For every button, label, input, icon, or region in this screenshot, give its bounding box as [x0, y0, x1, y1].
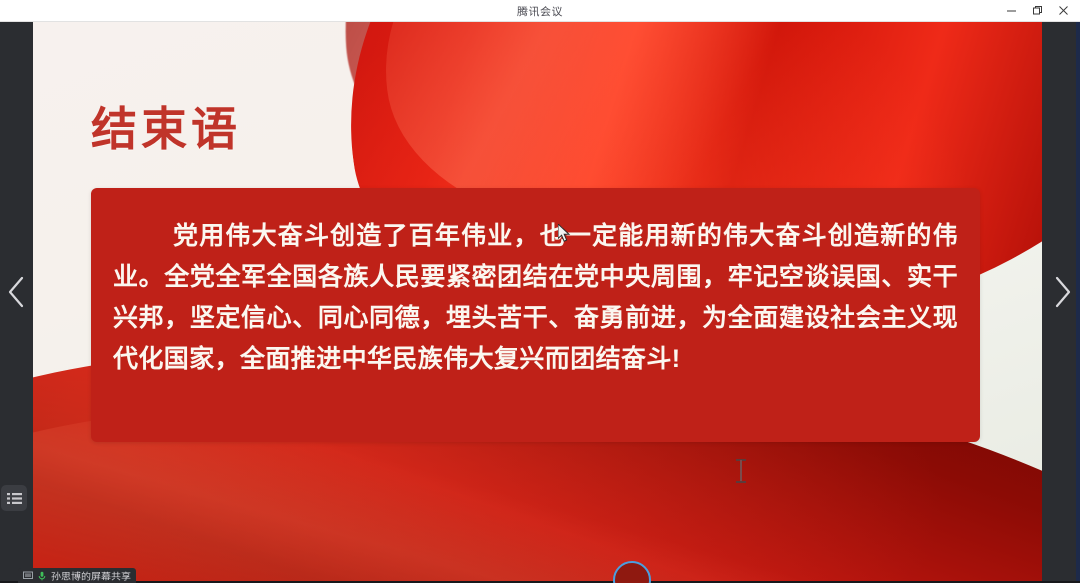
chevron-right-icon [1051, 275, 1073, 309]
title-bar: 腾讯会议 [0, 0, 1080, 22]
window-controls [998, 0, 1076, 21]
close-icon[interactable] [1050, 0, 1076, 21]
slide-body-text: 党用伟大奋斗创造了百年伟业，也一定能用新的伟大奋斗创造新的伟业。全党全军全国各族… [113, 216, 958, 380]
screen-icon [23, 571, 33, 581]
window-title: 腾讯会议 [517, 3, 563, 18]
microphone-icon [37, 571, 47, 581]
text-ibeam-cursor-icon [736, 459, 746, 483]
screen-share-label: 孙思博的屏幕共享 [18, 568, 136, 583]
slide-body-box: 党用伟大奋斗创造了百年伟业，也一定能用新的伟大奋斗创造新的伟业。全党全军全国各族… [91, 188, 980, 442]
slide-title: 结束语 [91, 93, 241, 159]
restore-icon[interactable] [1024, 0, 1050, 21]
share-owner-label: 孙思博的屏幕共享 [51, 569, 131, 583]
shared-screen-slide: 结束语 党用伟大奋斗创造了百年伟业，也一定能用新的伟大奋斗创造新的伟业。全党全军… [33, 21, 1042, 583]
tencent-meeting-window: 腾讯会议 结束语 [0, 0, 1080, 583]
slide-list-button[interactable] [1, 485, 27, 511]
list-icon [7, 492, 22, 505]
next-slide-button[interactable] [1045, 262, 1078, 322]
mouse-pointer-icon [558, 224, 571, 248]
chevron-left-icon [6, 275, 28, 309]
prev-slide-button[interactable] [0, 262, 33, 322]
minimize-icon[interactable] [998, 0, 1024, 21]
